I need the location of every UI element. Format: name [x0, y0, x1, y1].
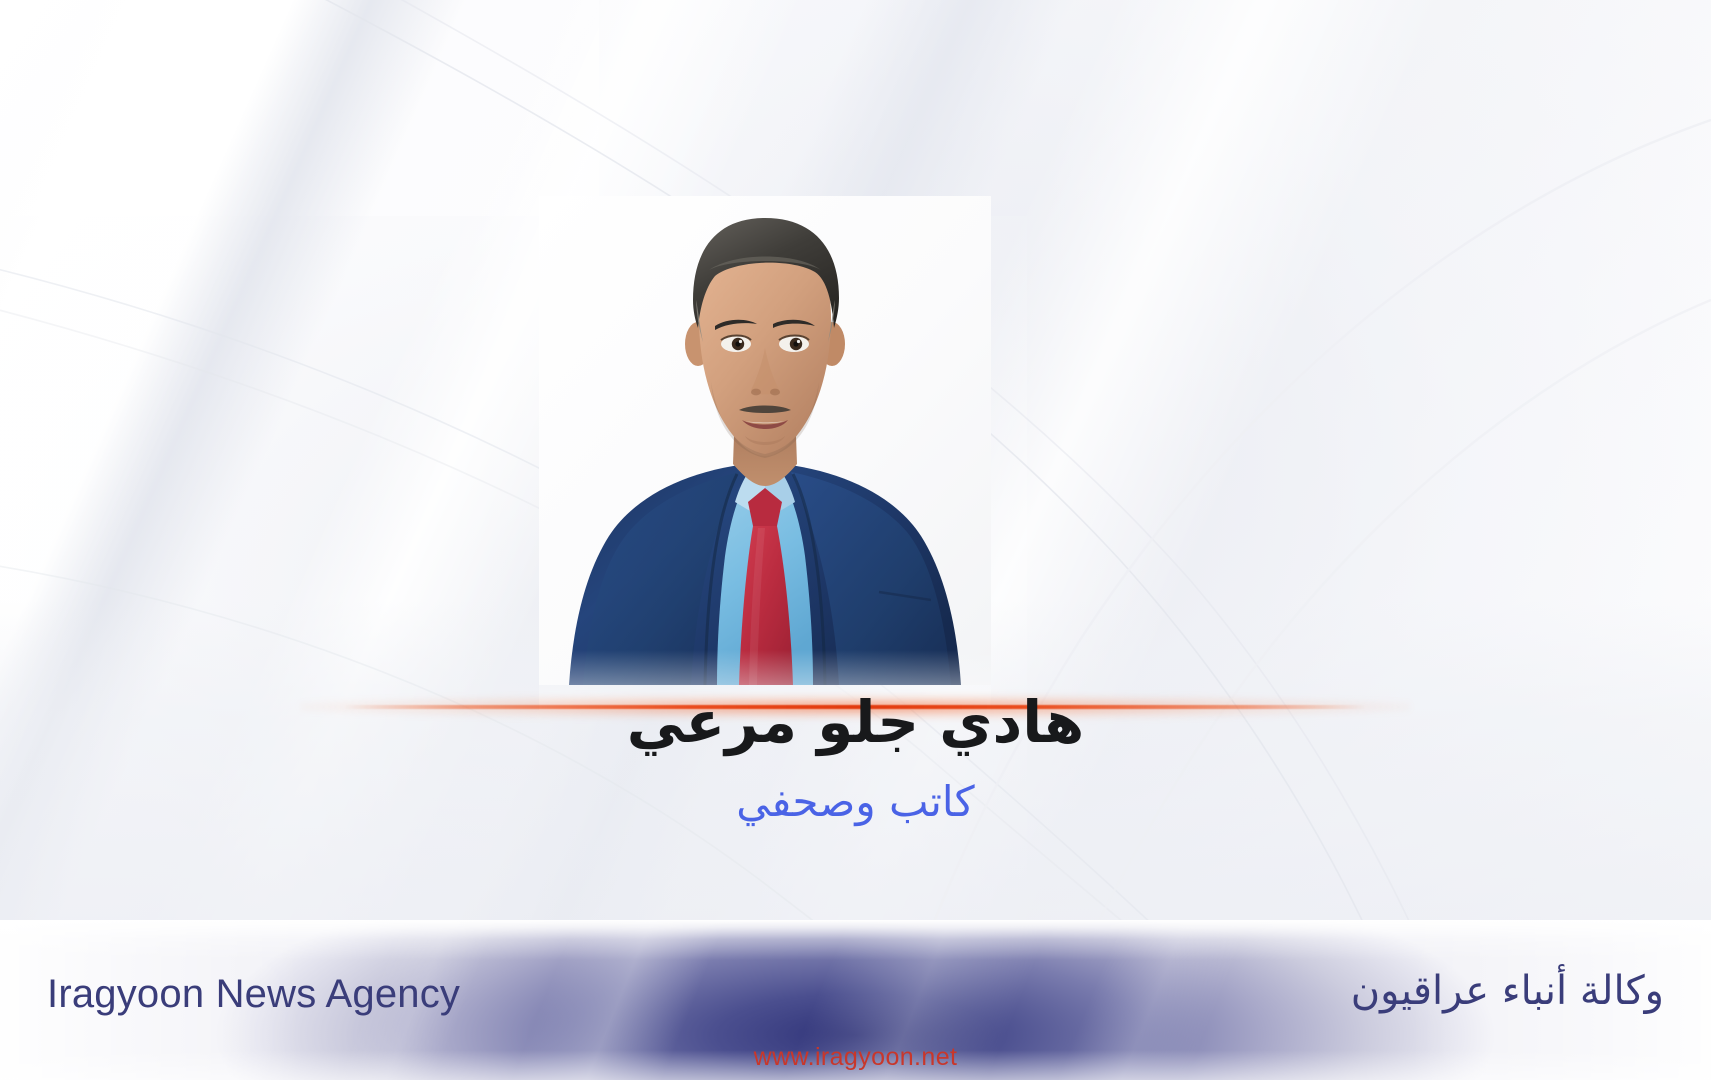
agency-name-english: Iragyoon News Agency	[47, 972, 460, 1017]
footer-top-fade	[0, 920, 1711, 960]
website-url[interactable]: www.iragyoon.net	[0, 1043, 1711, 1072]
agency-name-arabic: وكالة أنباء عراقيون	[1351, 968, 1664, 1014]
footer-bar: Iragyoon News Agency وكالة أنباء عراقيون…	[0, 920, 1711, 1080]
portrait-photo	[539, 196, 991, 685]
promo-card: هادي جلو مرعي كاتب وصحفي Iragyoon News A…	[0, 0, 1711, 1080]
person-name: هادي جلو مرعي	[0, 686, 1711, 759]
person-role: كاتب وصحفي	[0, 776, 1711, 829]
